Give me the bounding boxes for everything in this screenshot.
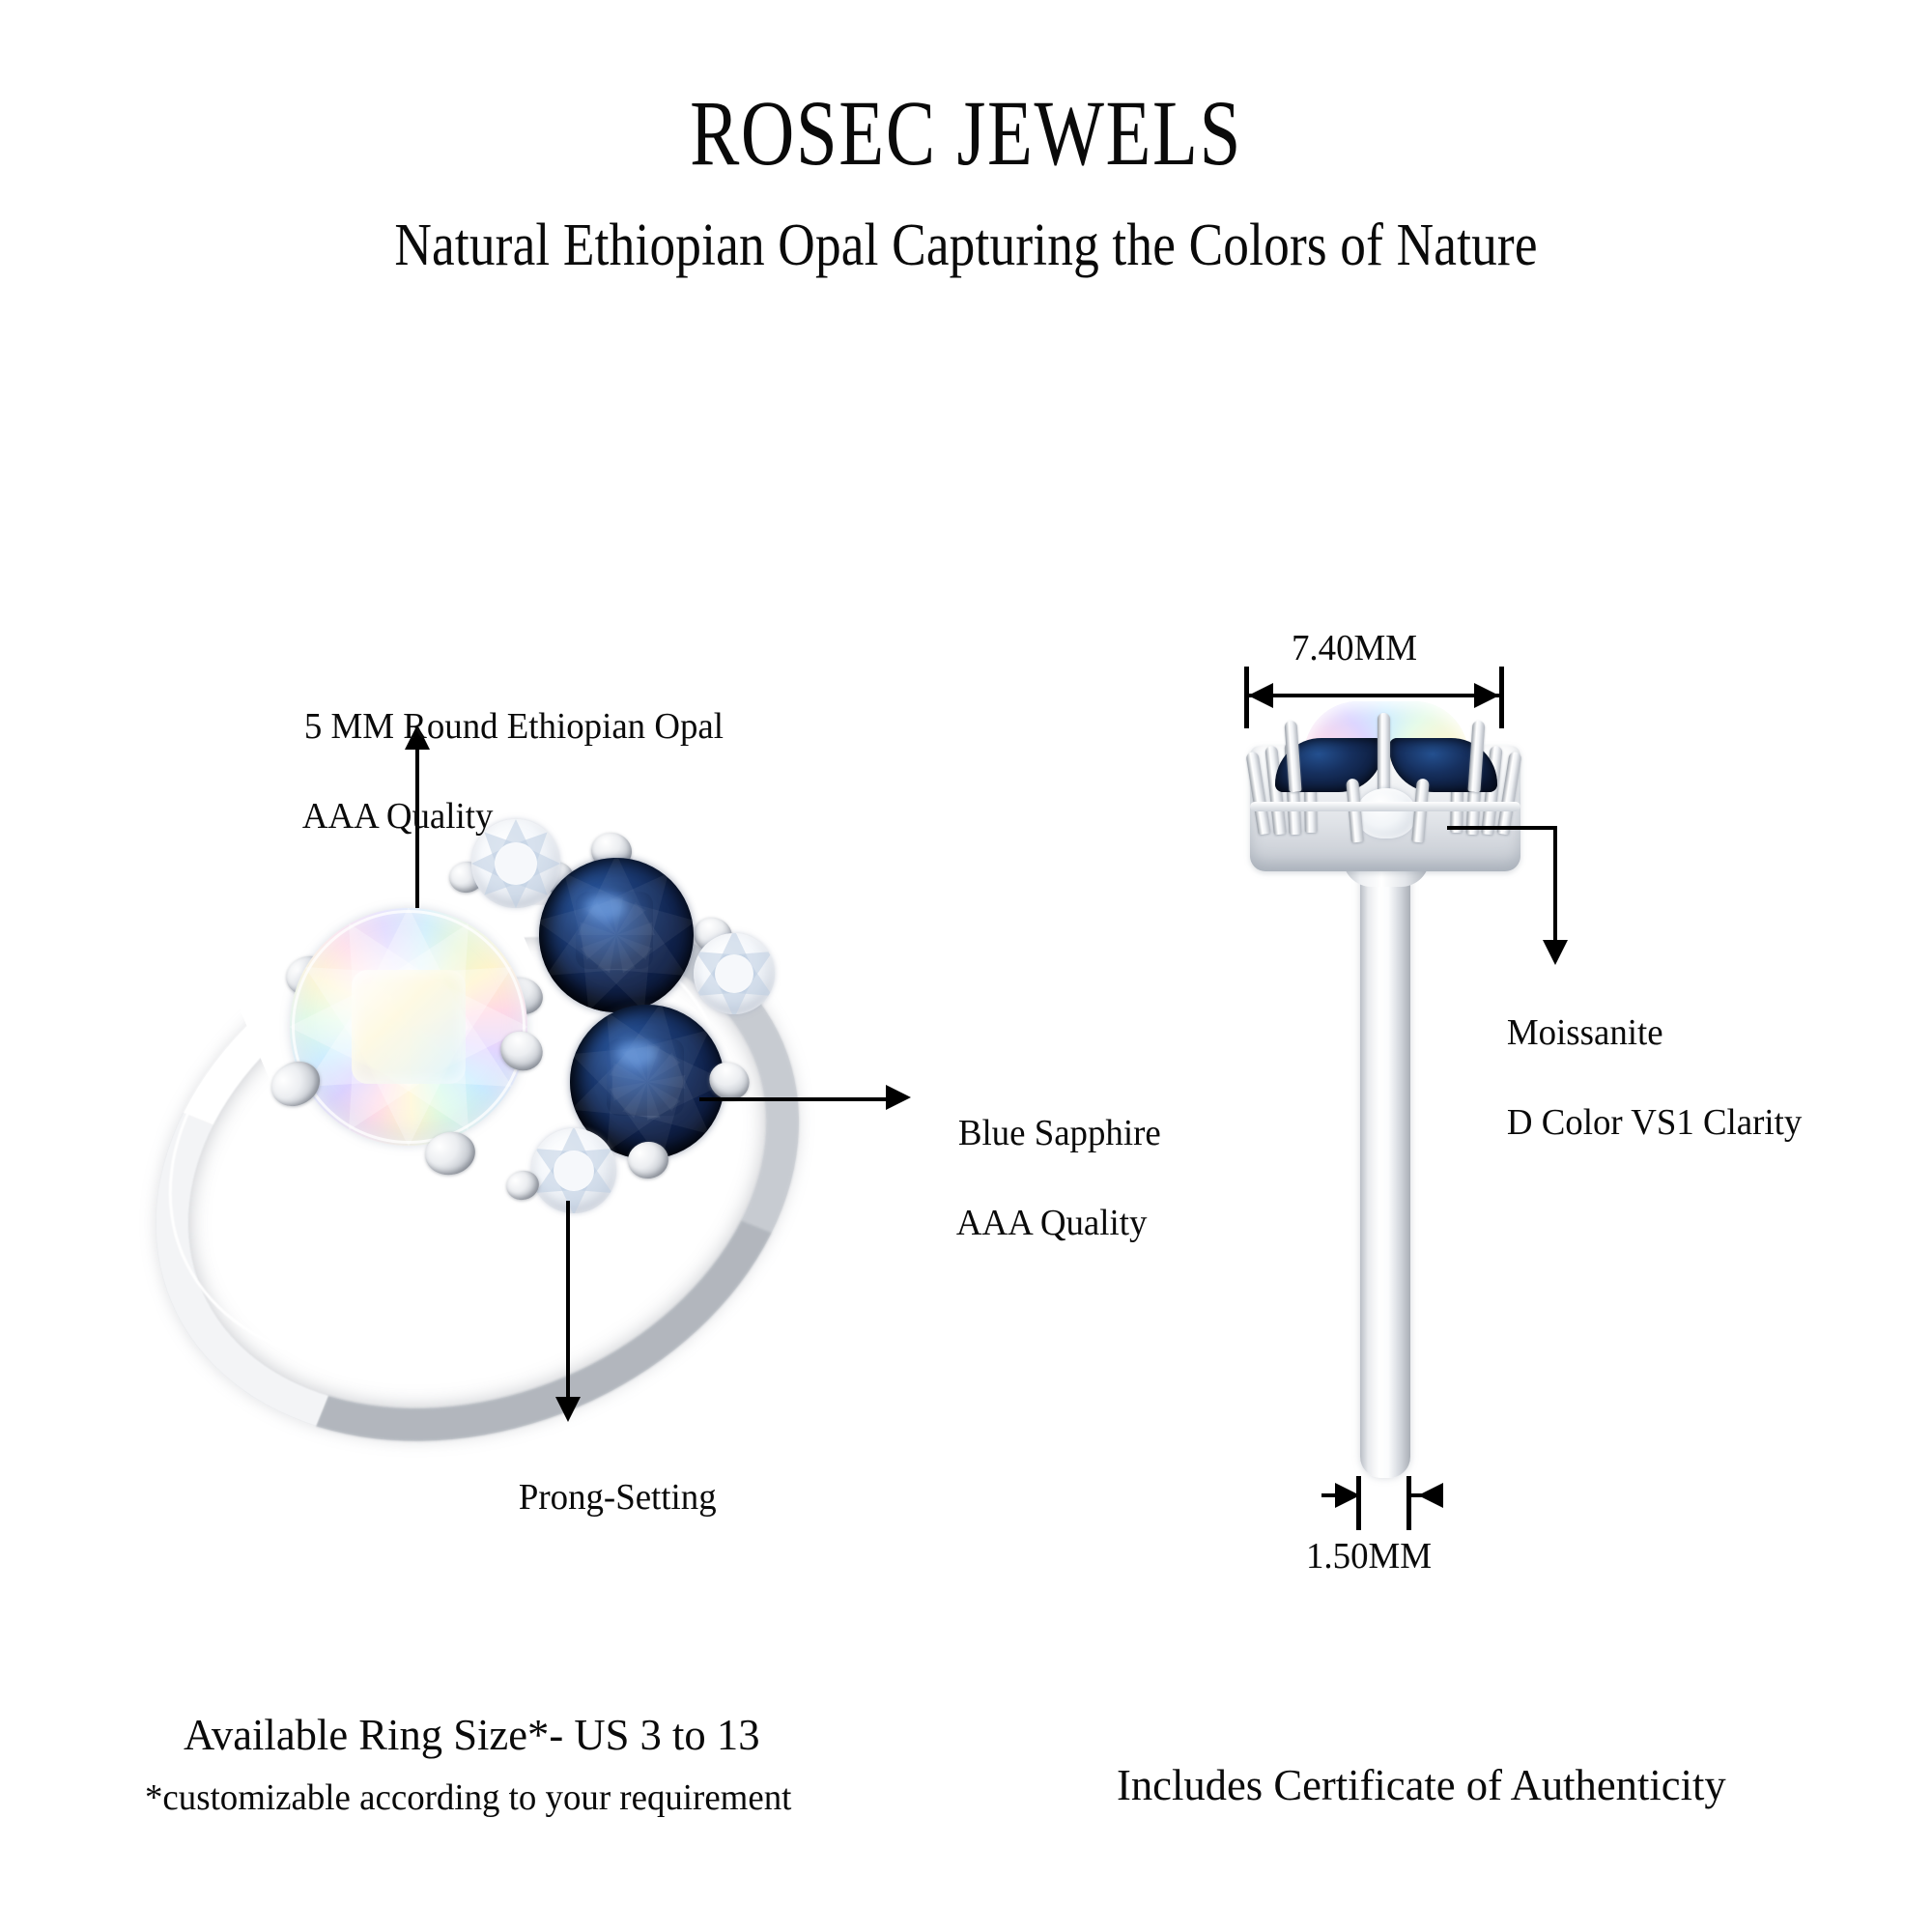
moissanite-accent-2 xyxy=(694,933,775,1014)
leader-arrow-sapphire xyxy=(886,1085,911,1110)
dim-line-head-width xyxy=(1248,694,1499,697)
dimension-head-width: 7.40MM xyxy=(1292,626,1417,670)
side-view-moissanite xyxy=(1356,788,1416,838)
leader-line-prong xyxy=(566,1201,570,1399)
leader-arrow-prong xyxy=(555,1397,581,1422)
dim-arrow-head-right xyxy=(1474,683,1499,708)
footer-ring-size-note: *customizable according to your requirem… xyxy=(145,1776,791,1820)
annotation-opal-line1: 5 MM Round Ethiopian Opal xyxy=(304,706,724,747)
infographic-canvas: ROSEC JEWELS Natural Ethiopian Opal Capt… xyxy=(0,0,1932,1932)
ring-head-setting xyxy=(1231,696,1540,898)
annotation-moissanite-line1: Moissanite xyxy=(1507,1012,1663,1053)
ethiopian-opal-center-stone xyxy=(290,908,527,1146)
annotation-sapphire-line2: AAA Quality xyxy=(956,1203,1148,1243)
dimension-band-width: 1.50MM xyxy=(1306,1534,1432,1578)
ring-shank xyxy=(1360,840,1410,1478)
leader-line-sapphire xyxy=(699,1097,888,1101)
annotation-sapphire-line1: Blue Sapphire xyxy=(958,1113,1161,1153)
leader-arrow-moissanite xyxy=(1543,940,1568,965)
dim-arrow-band-right xyxy=(1418,1483,1443,1508)
dim-tick-right-top xyxy=(1499,667,1504,728)
annotation-opal-line2: AAA Quality xyxy=(302,796,494,837)
dim-arrow-head-left xyxy=(1248,683,1273,708)
opal-girdle xyxy=(292,910,526,1144)
annotation-opal: 5 MM Round Ethiopian Opal AAA Quality xyxy=(269,660,724,884)
dim-arrow-band-left xyxy=(1335,1483,1360,1508)
dim-tick-right-bottom xyxy=(1406,1476,1411,1530)
tagline: Natural Ethiopian Opal Capturing the Col… xyxy=(135,214,1797,277)
annotation-moissanite-line2: D Color VS1 Clarity xyxy=(1507,1102,1802,1143)
leader-line-moissanite-h xyxy=(1447,826,1557,830)
moissanite-accent-3 xyxy=(531,1128,616,1213)
footer-certificate: Includes Certificate of Authenticity xyxy=(1117,1758,1726,1812)
claw-front-center xyxy=(1378,713,1390,796)
annotation-sapphire: Blue Sapphire AAA Quality xyxy=(923,1066,1161,1291)
leader-line-moissanite-v xyxy=(1553,826,1557,942)
annotation-prong-line1: Prong-Setting xyxy=(519,1477,717,1518)
setting-gallery-rail xyxy=(1250,802,1520,811)
annotation-prong: Prong-Setting xyxy=(483,1431,717,1565)
annotation-moissanite: Moissanite D Color VS1 Clarity xyxy=(1471,966,1802,1190)
brand-title: ROSEC JEWELS xyxy=(193,85,1739,183)
footer-ring-size: Available Ring Size*- US 3 to 13 xyxy=(184,1708,760,1762)
